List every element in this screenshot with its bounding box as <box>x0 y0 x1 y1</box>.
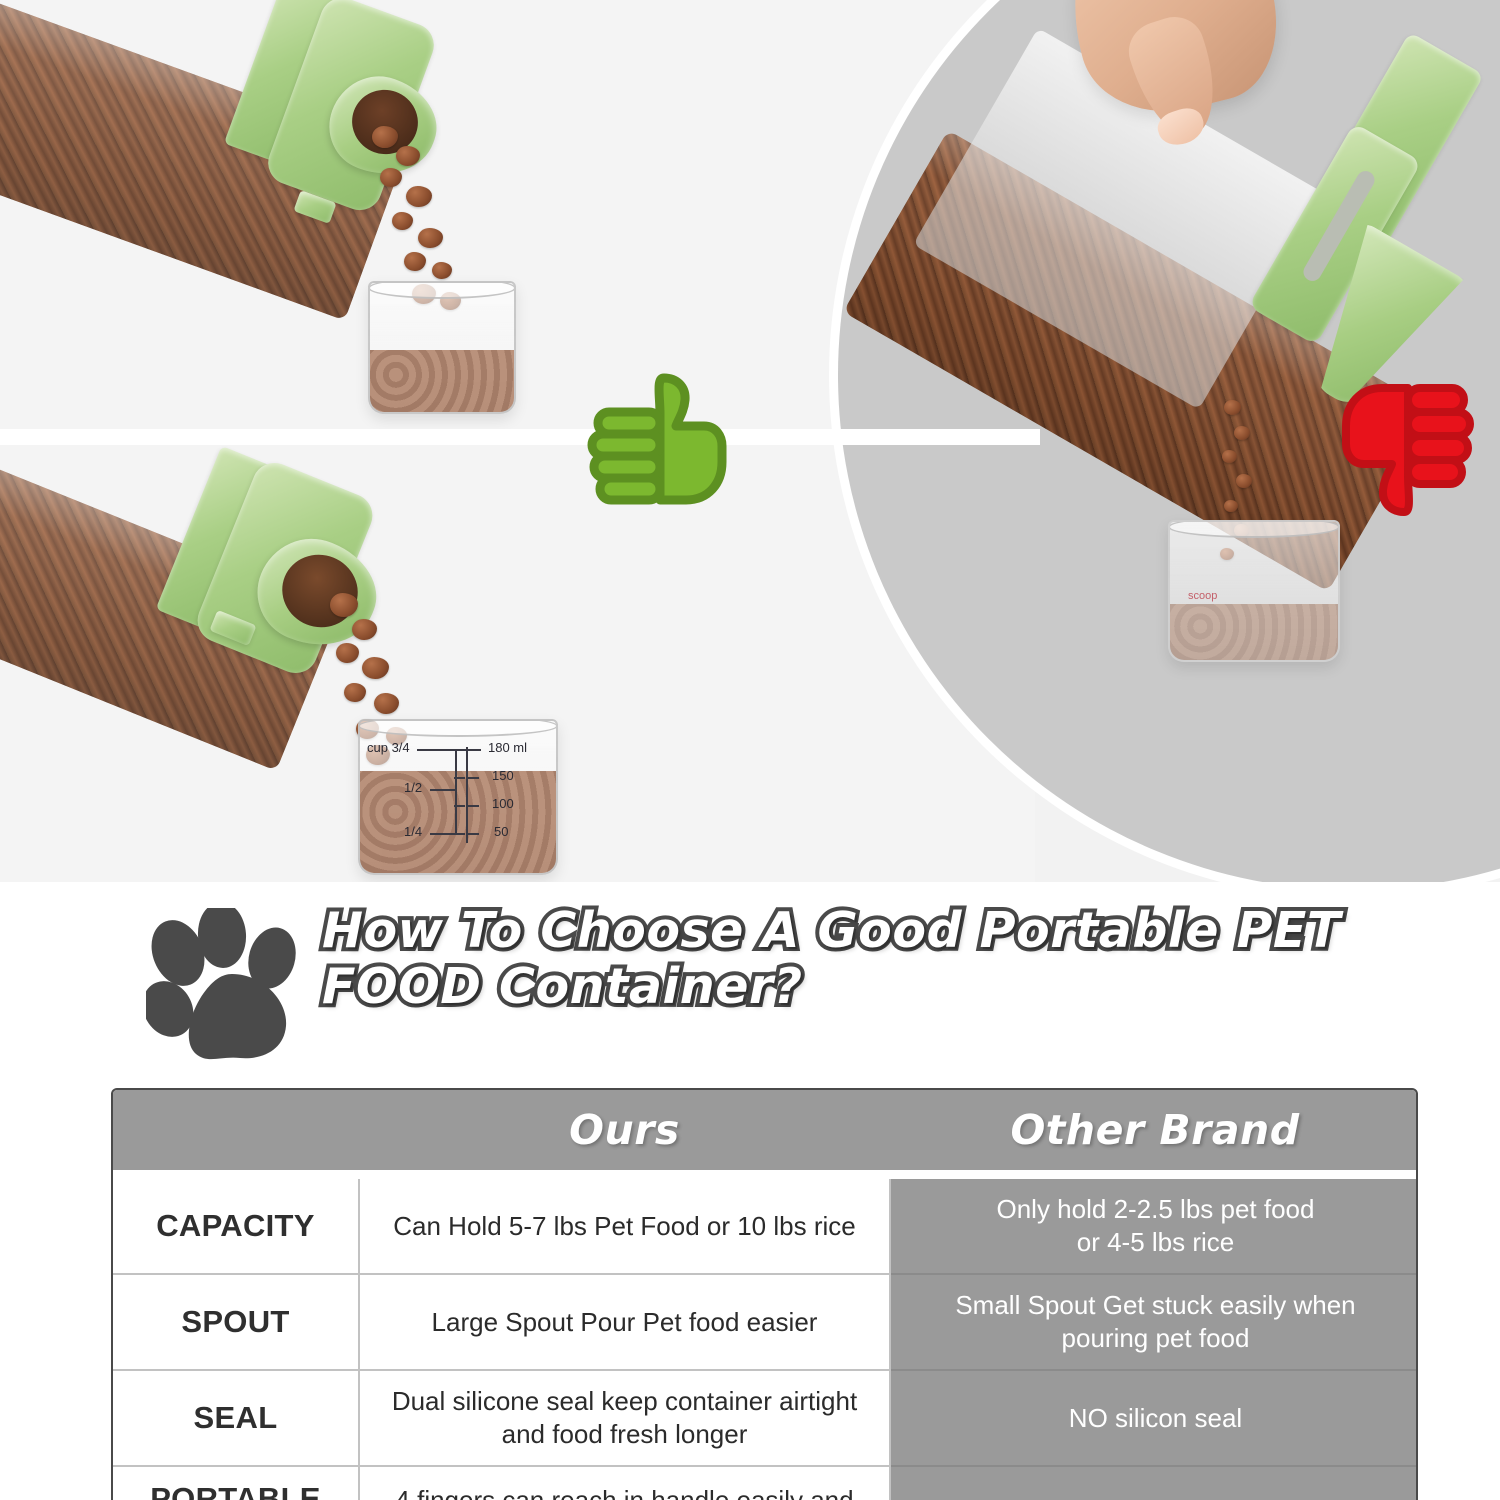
kibble-piece <box>352 619 377 640</box>
row-other-portable-handle: ONLY2-3 fingers can reach in handle <box>890 1466 1418 1500</box>
kibble-piece <box>362 657 389 679</box>
cup-kibble-fill <box>370 350 514 412</box>
scale-tick <box>468 805 479 807</box>
measuring-cup <box>368 281 516 414</box>
table-row: SPOUT Large Spout Pour Pet food easier S… <box>113 1274 1418 1370</box>
page-title-line-2: FOOD Container? <box>322 959 1452 1015</box>
row-label-capacity: CAPACITY <box>113 1179 359 1274</box>
scale-leader-vert <box>455 749 457 835</box>
row-ours-portable-handle: 4 fingers can reach in handle easily and… <box>359 1466 890 1500</box>
cup-label-right-1: 150 <box>492 768 514 783</box>
panel-divider <box>0 429 1040 445</box>
thumbs-down-icon <box>1320 372 1480 524</box>
table-body: CAPACITY Can Hold 5-7 lbs Pet Food or 10… <box>113 1179 1418 1500</box>
cup-label-left-2: 1/4 <box>404 824 422 839</box>
table-header: Ours Other Brand <box>113 1090 1418 1179</box>
table-row: PORTABLEHANDLE 4 fingers can reach in ha… <box>113 1466 1418 1500</box>
header-cell-ours: Ours <box>359 1090 890 1170</box>
header-cell-other: Other Brand <box>890 1090 1418 1170</box>
kibble-piece <box>404 252 426 271</box>
cup-graduation-scale: cup 3/4 1/2 1/4 180 ml 150 100 50 <box>358 719 558 875</box>
kibble-piece <box>392 212 413 230</box>
cup-label-right-0: 180 ml <box>488 740 527 755</box>
kibble-piece <box>336 643 359 663</box>
table-row: SEAL Dual silicone seal keep container a… <box>113 1370 1418 1466</box>
spacer-cell <box>359 1170 890 1179</box>
page-title: How To Choose A Good Portable PET FOOD C… <box>322 903 1452 1015</box>
cup-label-right-3: 50 <box>494 824 508 839</box>
thumbs-up-icon <box>572 366 732 516</box>
header-label-other-brand: Other Brand <box>1010 1106 1299 1154</box>
page-title-line-1: How To Choose A Good Portable PET <box>322 903 1452 959</box>
product-infographic-page: cup 3/4 1/2 1/4 180 ml 150 100 50 <box>0 0 1500 1500</box>
comparison-table: Ours Other Brand CAPACITY Can Hold 5-7 l… <box>111 1088 1418 1500</box>
photo-collage-section: cup 3/4 1/2 1/4 180 ml 150 100 50 <box>0 0 1500 882</box>
table-header-row: Ours Other Brand <box>113 1090 1418 1170</box>
other-brand-measuring-cup: scoop <box>1168 520 1340 662</box>
row-ours-spout: Large Spout Pour Pet food easier <box>359 1274 890 1370</box>
row-ours-capacity: Can Hold 5-7 lbs Pet Food or 10 lbs rice <box>359 1179 890 1274</box>
row-other-spout: Small Spout Get stuck easily whenpouring… <box>890 1274 1418 1370</box>
scale-tick <box>468 777 479 779</box>
kibble-piece <box>432 262 452 279</box>
kibble-piece <box>406 186 432 207</box>
scale-leader <box>430 789 456 791</box>
header-label-ours: Ours <box>569 1106 680 1154</box>
row-other-capacity: Only hold 2-2.5 lbs pet foodor 4-5 lbs r… <box>890 1179 1418 1274</box>
scale-leader <box>417 749 457 751</box>
cup-kibble-fill <box>1170 604 1338 660</box>
scale-tick <box>468 833 479 835</box>
kibble-piece <box>344 683 366 702</box>
header-cell-blank <box>113 1090 359 1170</box>
spacer-cell <box>113 1170 359 1179</box>
table-row: CAPACITY Can Hold 5-7 lbs Pet Food or 10… <box>113 1179 1418 1274</box>
header-spacer-row <box>113 1170 1418 1179</box>
row-label-portable-handle: PORTABLEHANDLE <box>113 1466 359 1500</box>
cup-label-left-0: cup 3/4 <box>367 740 410 755</box>
row-label-seal: SEAL <box>113 1370 359 1466</box>
row-label-spout: SPOUT <box>113 1274 359 1370</box>
kibble-piece <box>374 693 399 714</box>
spacer-cell <box>890 1170 1418 1179</box>
kibble-piece <box>380 168 402 187</box>
scale-leader <box>430 833 456 835</box>
row-ours-seal: Dual silicone seal keep container airtig… <box>359 1370 890 1466</box>
scale-tick <box>468 749 481 751</box>
cup-label-right-2: 100 <box>492 796 514 811</box>
scale-axis <box>466 747 468 843</box>
paw-print-icon <box>146 908 316 1063</box>
kibble-piece <box>418 228 443 248</box>
cup-scoop-label: scoop <box>1188 590 1217 602</box>
cup-label-left-1: 1/2 <box>404 780 422 795</box>
row-other-seal: NO silicon seal <box>890 1370 1418 1466</box>
